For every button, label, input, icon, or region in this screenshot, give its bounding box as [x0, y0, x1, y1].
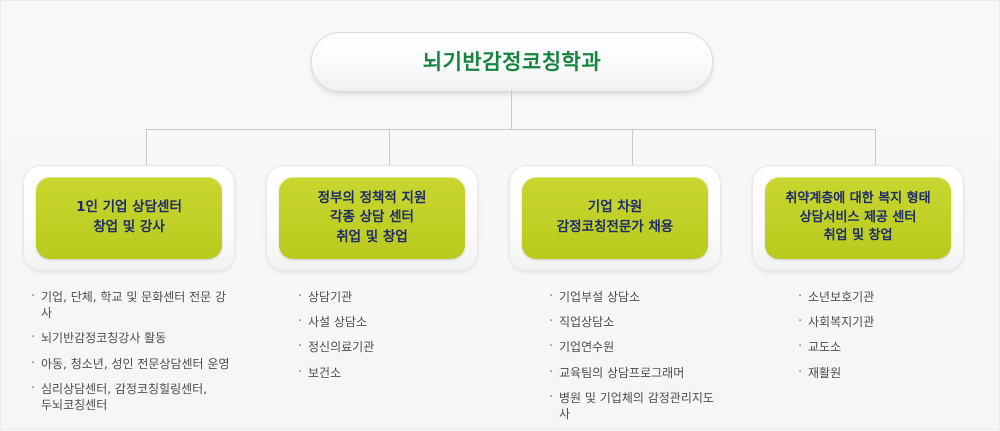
node-plate-4: 취약계층에 대한 복지 형태 상담서비스 제공 센터 취업 및 창업 [752, 165, 964, 271]
node-plate-1: 1인 기업 상담센터 창업 및 강사 [23, 165, 235, 271]
connector-drop-2 [389, 129, 390, 166]
list-item: 소년보호기관 [798, 289, 964, 305]
list-item: 기업연수원 [549, 339, 721, 355]
branch-column-1: 1인 기업 상담센터 창업 및 강사 기업, 단체, 학교 및 문화센터 전문 … [23, 165, 235, 422]
org-chart: 뇌기반감정코칭학과 1인 기업 상담센터 창업 및 강사 기업, 단체, 학교 … [0, 0, 1000, 430]
branch-node-2[interactable]: 정부의 정책적 지원 각종 상담 센터 취업 및 창업 [279, 177, 465, 259]
list-item: 뇌기반감정코칭강사 활동 [31, 330, 235, 346]
branch-list-1: 기업, 단체, 학교 및 문화센터 전문 강사 뇌기반감정코칭강사 활동 아동,… [31, 289, 235, 413]
list-item: 심리상담센터, 감정코칭힐링센터, 두뇌코칭센터 [31, 381, 235, 413]
list-item: 병원 및 기업체의 감정관리지도사 [549, 390, 721, 422]
branch-column-2: 정부의 정책적 지원 각종 상담 센터 취업 및 창업 상담기관 사설 상담소 … [266, 165, 478, 390]
connector-drop-1 [146, 129, 147, 166]
branch-list-3: 기업부설 상담소 직업상담소 기업연수원 교육팀의 상담프로그래머 병원 및 기… [549, 289, 721, 422]
connector-drop-3 [632, 129, 633, 166]
branch-node-1[interactable]: 1인 기업 상담센터 창업 및 강사 [36, 177, 222, 259]
list-item: 기업부설 상담소 [549, 289, 721, 305]
list-item: 직업상담소 [549, 314, 721, 330]
page-title: 뇌기반감정코칭학과 [423, 52, 601, 73]
list-item: 보건소 [298, 365, 478, 381]
branch-list-2: 상담기관 사설 상담소 정신의료기관 보건소 [298, 289, 478, 381]
node-plate-3: 기업 차원 감정코칭전문가 채용 [509, 165, 721, 271]
branch-node-label-2: 정부의 정책적 지원 각종 상담 센터 취업 및 창업 [318, 189, 427, 248]
branch-list-4: 소년보호기관 사회복지기관 교도소 재활원 [798, 289, 964, 381]
list-item: 정신의료기관 [298, 339, 478, 355]
branch-node-label-3: 기업 차원 감정코칭전문가 채용 [557, 198, 673, 237]
list-item: 사설 상담소 [298, 314, 478, 330]
connector-drop-4 [875, 129, 876, 166]
list-item: 아동, 청소년, 성인 전문상담센터 운영 [31, 356, 235, 372]
branch-node-label-4: 취약계층에 대한 복지 형태 상담서비스 제공 센터 취업 및 창업 [785, 190, 930, 247]
connector-horizontal-bus [146, 129, 876, 130]
list-item: 기업, 단체, 학교 및 문화센터 전문 강사 [31, 289, 235, 321]
list-item: 상담기관 [298, 289, 478, 305]
connector-trunk-vertical [511, 90, 512, 129]
branch-node-3[interactable]: 기업 차원 감정코칭전문가 채용 [522, 177, 708, 259]
branch-node-4[interactable]: 취약계층에 대한 복지 형태 상담서비스 제공 센터 취업 및 창업 [765, 177, 951, 259]
list-item: 사회복지기관 [798, 314, 964, 330]
branch-column-3: 기업 차원 감정코칭전문가 채용 기업부설 상담소 직업상담소 기업연수원 교육… [509, 165, 721, 431]
branch-column-4: 취약계층에 대한 복지 형태 상담서비스 제공 센터 취업 및 창업 소년보호기… [752, 165, 964, 390]
list-item: 재활원 [798, 365, 964, 381]
list-item: 교육팀의 상담프로그래머 [549, 365, 721, 381]
branch-node-label-1: 1인 기업 상담센터 창업 및 강사 [76, 198, 182, 237]
list-item: 교도소 [798, 339, 964, 355]
node-plate-2: 정부의 정책적 지원 각종 상담 센터 취업 및 창업 [266, 165, 478, 271]
root-node[interactable]: 뇌기반감정코칭학과 [311, 32, 713, 92]
